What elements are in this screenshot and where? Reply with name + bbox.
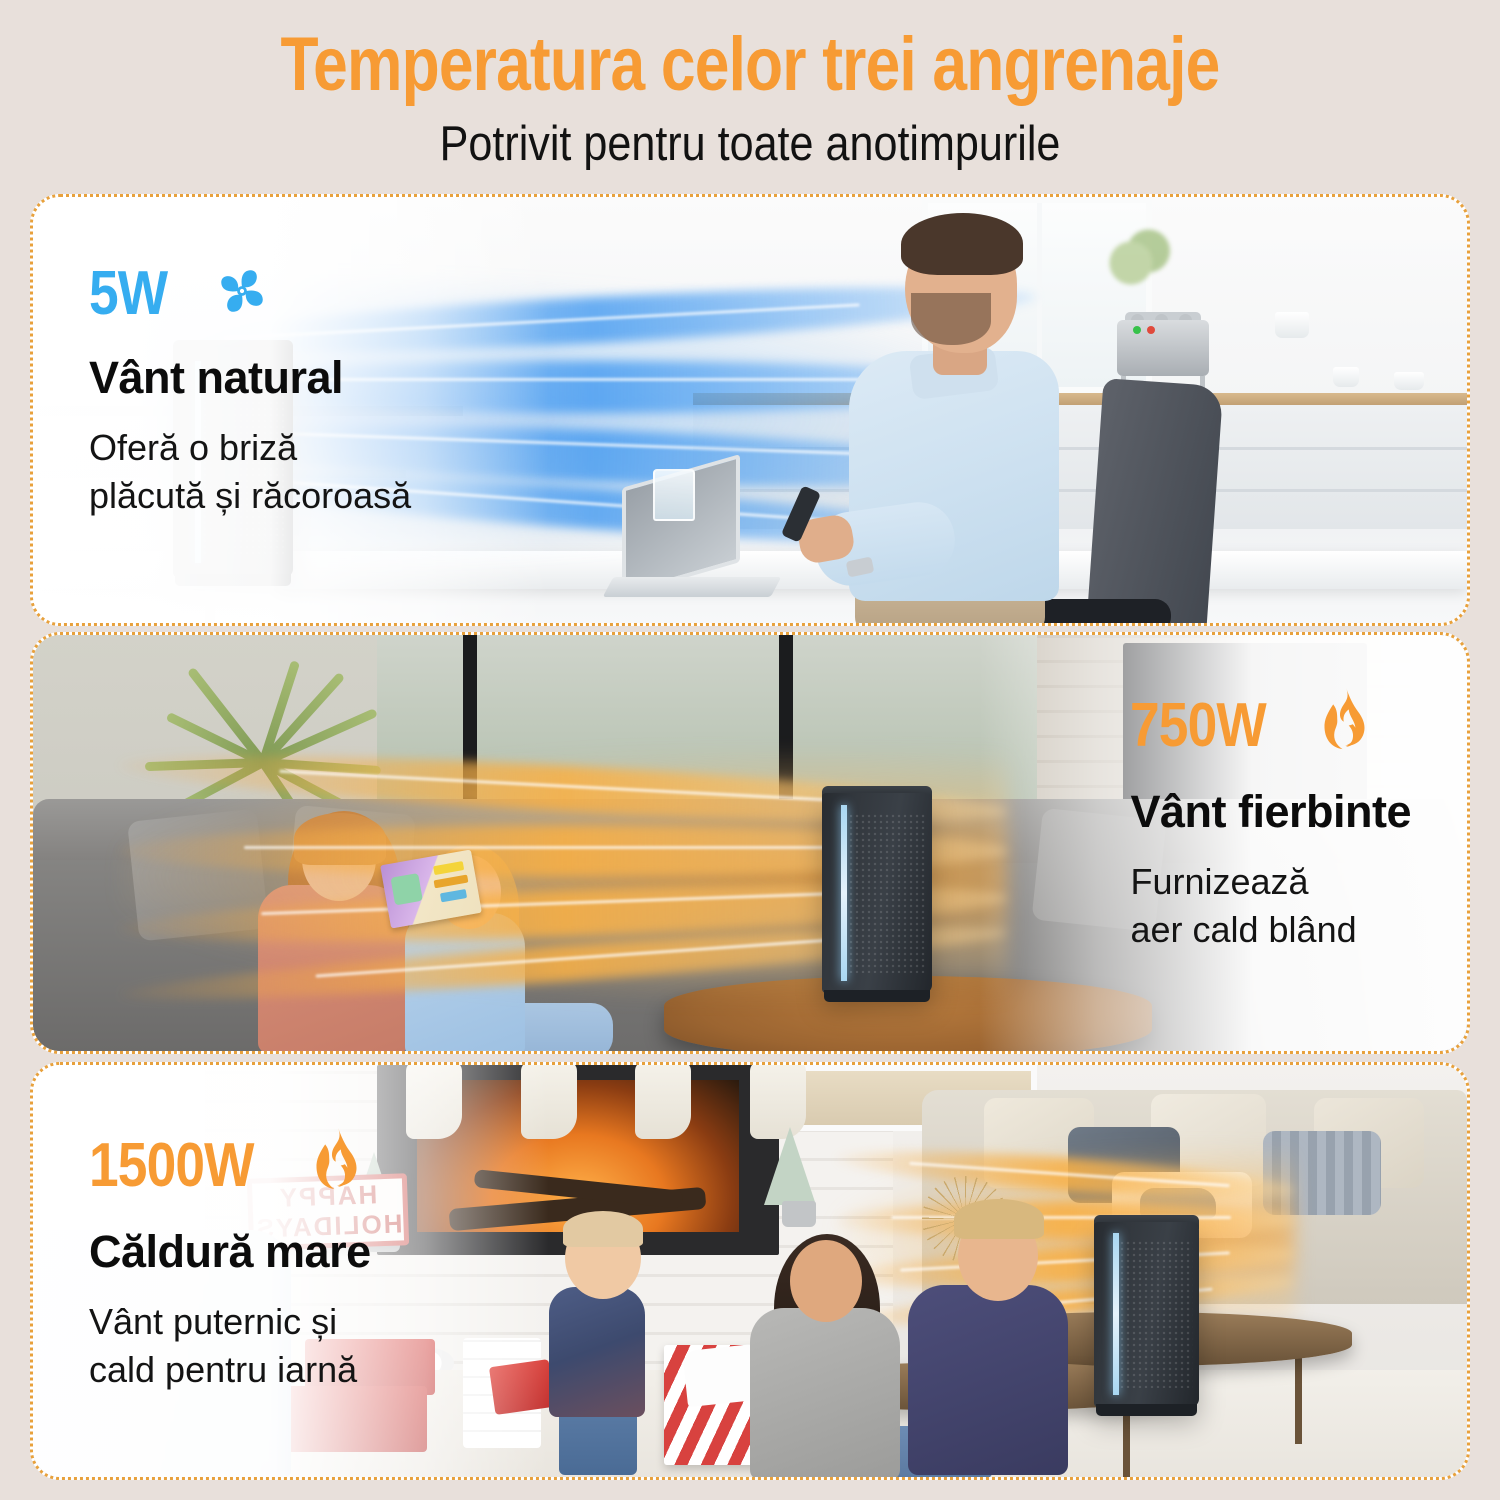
heater-unit	[822, 793, 932, 993]
header: Temperatura celor trei angrenaje Potrivi…	[0, 0, 1500, 172]
panel-1-text-block: 5W Vânt natural Oferă o bri	[89, 257, 411, 519]
feature-title-natural-wind: Vânt natural	[89, 352, 411, 404]
power-rating-750w: 750W	[1130, 695, 1266, 757]
flame-icon	[306, 1127, 368, 1204]
person-man-at-desk	[793, 227, 1213, 623]
power-rating-5w: 5W	[89, 263, 167, 325]
flame-icon	[1314, 687, 1376, 764]
feature-panel-high-heat: HAPPY HOLIDAYS	[30, 1062, 1470, 1480]
stocking	[635, 1065, 691, 1139]
feature-description-natural-wind: Oferă o briză plăcută și răcoroasă	[89, 424, 411, 519]
heater-unit	[1094, 1222, 1199, 1407]
fan-icon	[206, 257, 278, 330]
panel-2-text-block: 750W Vânt fierbinte Furnizează aer cald …	[1130, 687, 1411, 953]
water-glass	[653, 469, 695, 521]
mini-christmas-tree	[764, 1127, 816, 1205]
cup	[1394, 372, 1424, 390]
cup	[1333, 367, 1359, 387]
feature-panel-hot-wind: 750W Vânt fierbinte Furnizează aer cald …	[30, 632, 1470, 1054]
feature-title-hot-wind: Vânt fierbinte	[1130, 786, 1411, 838]
tree-pot	[782, 1201, 816, 1227]
power-rating-1500w: 1500W	[89, 1135, 254, 1197]
feature-description-high-heat: Vânt puternic și cald pentru iarnă	[89, 1298, 371, 1393]
page-title: Temperatura celor trei angrenaje	[135, 26, 1365, 104]
pitcher	[1275, 312, 1309, 338]
pillow	[127, 808, 269, 941]
page-subtitle: Potrivit pentru toate anotimpurile	[90, 116, 1410, 172]
feature-title-high-heat: Căldură mare	[89, 1226, 371, 1278]
pillow-knit	[1263, 1131, 1381, 1215]
product-feature-infographic: Temperatura celor trei angrenaje Potrivi…	[0, 0, 1500, 1500]
person-toddler	[549, 1205, 659, 1475]
feature-panel-natural-wind: 5W Vânt natural Oferă o bri	[30, 194, 1470, 626]
panel-3-text-block: 1500W Căldură mare Vânt puternic și cald…	[89, 1127, 371, 1393]
feature-description-hot-wind: Furnizează aer cald blând	[1130, 858, 1411, 953]
